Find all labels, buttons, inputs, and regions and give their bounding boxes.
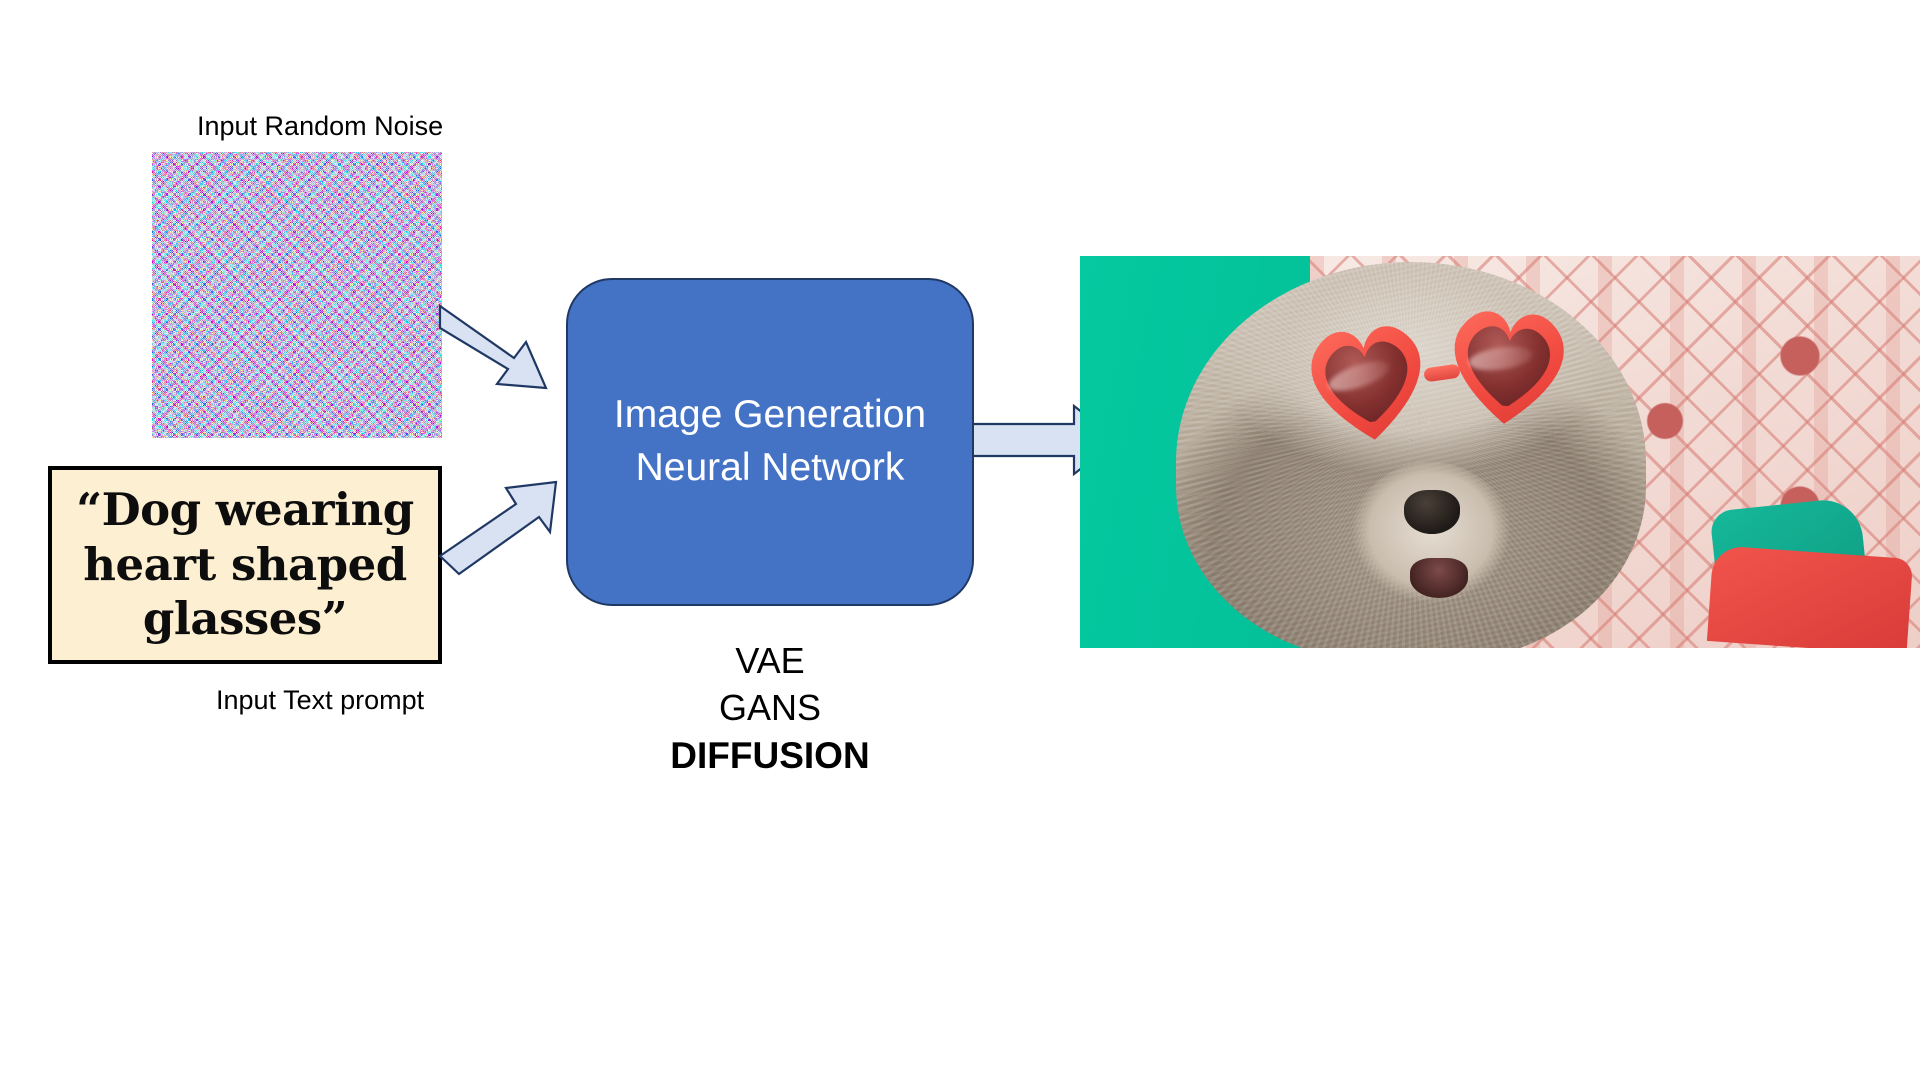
- heart-glasses-left-lens: [1297, 317, 1438, 450]
- heart-glasses-right-lens: [1440, 304, 1576, 431]
- arrow-prompt-shape: [440, 482, 556, 574]
- arrow-noise-to-network: [440, 306, 575, 406]
- neural-network-box-label: Image Generation Neural Network: [614, 389, 926, 494]
- model-item-diffusion: DIFFUSION: [566, 732, 974, 780]
- backdrop-diamond-1: [1715, 271, 1885, 441]
- dog-nose: [1404, 490, 1460, 534]
- model-type-list: VAE GANS DIFFUSION: [566, 638, 974, 780]
- model-item-vae: VAE: [566, 638, 974, 685]
- random-noise-image: [152, 152, 442, 438]
- noise-layer-5: [152, 152, 442, 438]
- output-dog-photo: [1080, 256, 1920, 648]
- dog-muzzle: [1346, 462, 1516, 632]
- input-noise-label: Input Random Noise: [197, 112, 443, 142]
- diagram-canvas: Input Random Noise “Dog wearing heart sh…: [0, 0, 1920, 1080]
- photo-red-cloth: [1707, 545, 1913, 648]
- arrow-noise-shape: [440, 306, 546, 388]
- model-item-gans: GANS: [566, 685, 974, 732]
- input-text-prompt-text: “Dog wearing heart shaped glasses”: [52, 483, 438, 648]
- arrow-prompt-to-network: [440, 470, 575, 580]
- neural-network-box: Image Generation Neural Network: [566, 278, 974, 606]
- input-text-prompt-box: “Dog wearing heart shaped glasses”: [48, 466, 442, 664]
- dog-head: [1176, 262, 1646, 648]
- dog-mouth: [1410, 558, 1468, 598]
- input-text-prompt-label: Input Text prompt: [216, 686, 424, 716]
